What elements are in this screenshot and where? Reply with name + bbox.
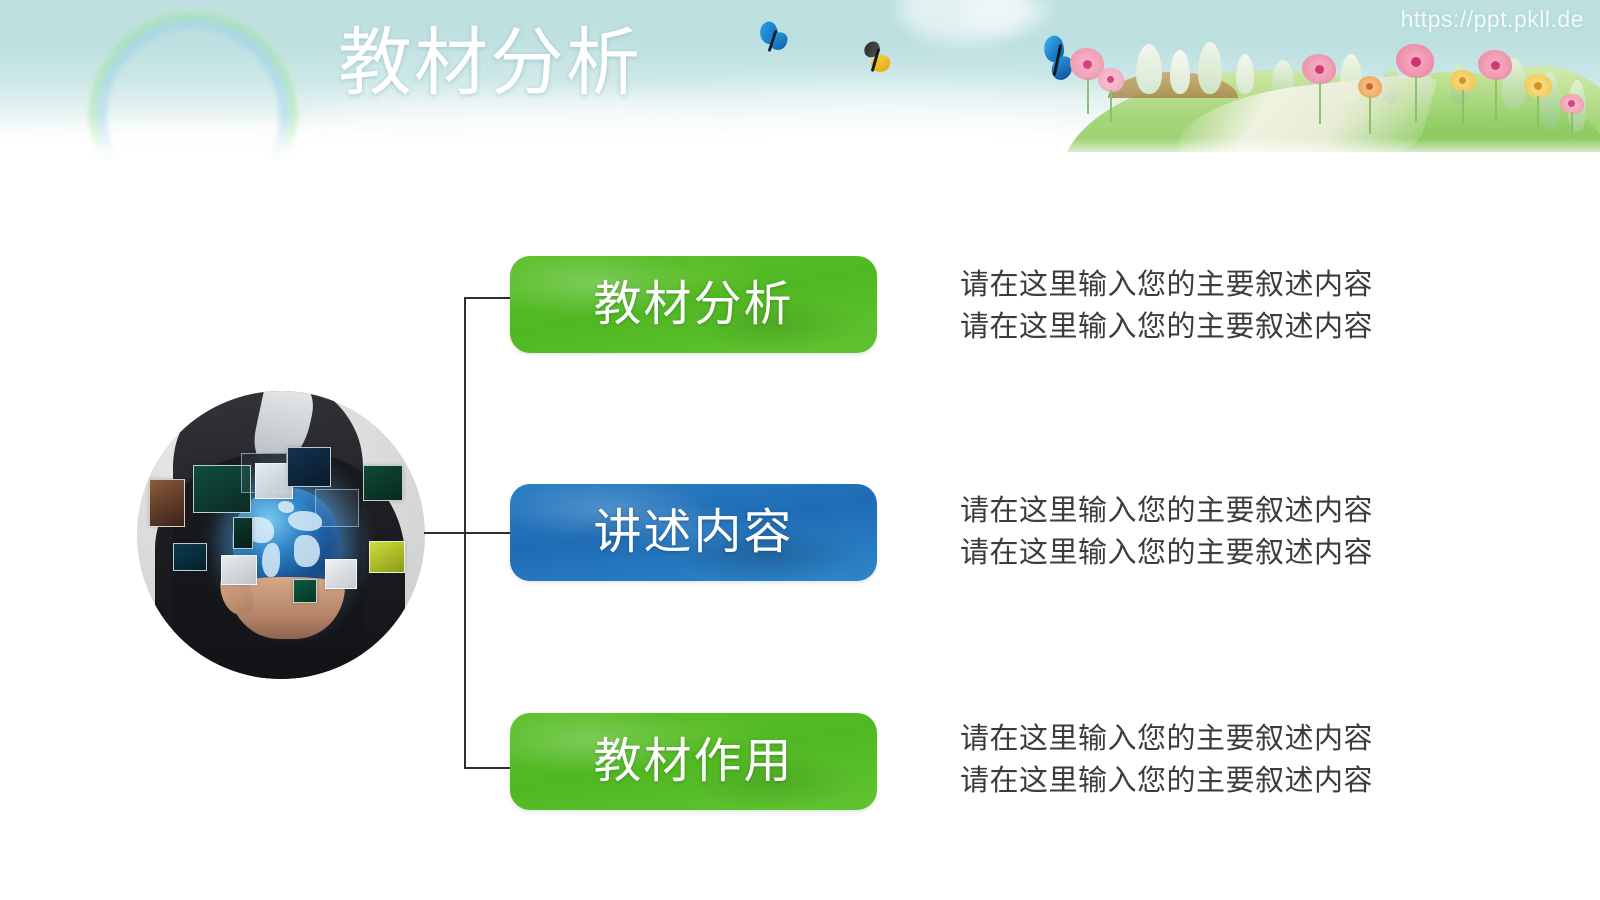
- photo-thumbnail-frame: [241, 453, 287, 493]
- node-button-1[interactable]: 教材分析: [510, 256, 877, 353]
- description-line: 请在这里输入您的主要叙述内容: [960, 264, 1480, 306]
- node-label-3: 教材作用: [593, 738, 793, 786]
- tree-icon: [1236, 54, 1254, 94]
- description-line: 请在这里输入您的主要叙述内容: [960, 760, 1480, 802]
- tree-icon: [1170, 50, 1190, 94]
- slide-canvas: 教材分析 https://ppt.pkll.de: [0, 0, 1600, 900]
- globe-landmass: [278, 501, 294, 513]
- description-line: 请在这里输入您的主要叙述内容: [960, 532, 1480, 574]
- node-button-2[interactable]: 讲述内容: [510, 484, 877, 581]
- connector-branch-node-3: [464, 767, 514, 769]
- cloud-shape: [300, 96, 720, 160]
- flower-core: [1366, 83, 1373, 90]
- flower-icon: [1302, 54, 1336, 86]
- flower-icon: [1560, 94, 1584, 116]
- flower-stem: [1495, 78, 1497, 122]
- watermark-url: https://ppt.pkll.de: [1401, 6, 1584, 33]
- butterfly-blue-small-icon: [758, 22, 792, 56]
- flower-stem: [1537, 96, 1539, 128]
- flower-core: [1315, 65, 1324, 74]
- node-label-1: 教材分析: [593, 281, 793, 329]
- flower-core: [1459, 77, 1466, 84]
- node-description-1: 请在这里输入您的主要叙述内容 请在这里输入您的主要叙述内容: [960, 264, 1480, 348]
- connector-branch-node-2: [464, 532, 514, 534]
- photo-thumbnail-tile: [325, 559, 357, 589]
- description-line: 请在这里输入您的主要叙述内容: [960, 306, 1480, 348]
- globe-landmass: [294, 535, 320, 567]
- flower-icon: [1524, 74, 1552, 100]
- spring-landscape-illustration: [1040, 20, 1600, 152]
- flower-stem: [1319, 82, 1321, 124]
- photo-thumbnail-tile: [233, 517, 253, 549]
- flower-stem: [1087, 78, 1089, 114]
- photo-thumbnail-tile: [369, 541, 405, 573]
- flower-icon: [1396, 44, 1434, 80]
- connector-line-circle-to-trunk: [424, 532, 466, 534]
- connector-branch-node-1: [464, 297, 514, 299]
- flower-icon: [1358, 76, 1382, 100]
- photo-thumbnail-tile: [363, 465, 403, 501]
- rainbow-fade-mask: [70, 120, 320, 160]
- slide-header-band: 教材分析 https://ppt.pkll.de: [0, 0, 1600, 160]
- photo-thumbnail-frame: [315, 489, 359, 527]
- globe-landmass: [262, 543, 280, 577]
- flower-stem: [1571, 112, 1573, 138]
- flower-icon: [1478, 50, 1512, 82]
- flower-icon: [1450, 70, 1476, 94]
- flower-stem: [1110, 90, 1112, 122]
- node-label-2: 讲述内容: [593, 509, 793, 557]
- flower-stem: [1369, 96, 1371, 134]
- butterfly-yellow-icon: [862, 42, 896, 78]
- flower-core: [1534, 82, 1542, 90]
- flower-stem: [1415, 76, 1417, 122]
- flower-icon: [1098, 68, 1124, 94]
- flower-core: [1411, 57, 1421, 67]
- photo-thumbnail-tile: [149, 479, 185, 527]
- flower-core: [1568, 100, 1575, 107]
- flower-stem: [1462, 90, 1464, 124]
- landscape-bottom-fade: [1040, 138, 1600, 152]
- node-button-3[interactable]: 教材作用: [510, 713, 877, 810]
- photo-thumbnail-tile: [173, 543, 207, 571]
- photo-thumbnail-tile: [221, 555, 257, 585]
- tree-icon: [1136, 44, 1162, 94]
- globe-photo-circle: [137, 391, 425, 679]
- node-description-2: 请在这里输入您的主要叙述内容 请在这里输入您的主要叙述内容: [960, 490, 1480, 574]
- description-line: 请在这里输入您的主要叙述内容: [960, 718, 1480, 760]
- photo-thumbnail-tile: [287, 447, 331, 487]
- flower-core: [1107, 76, 1114, 83]
- node-description-3: 请在这里输入您的主要叙述内容 请在这里输入您的主要叙述内容: [960, 718, 1480, 802]
- photo-thumbnail-tile: [293, 579, 317, 603]
- flower-core: [1491, 61, 1500, 70]
- page-title: 教材分析: [338, 22, 642, 105]
- tree-icon: [1198, 42, 1222, 94]
- flower-core: [1083, 60, 1092, 69]
- description-line: 请在这里输入您的主要叙述内容: [960, 490, 1480, 532]
